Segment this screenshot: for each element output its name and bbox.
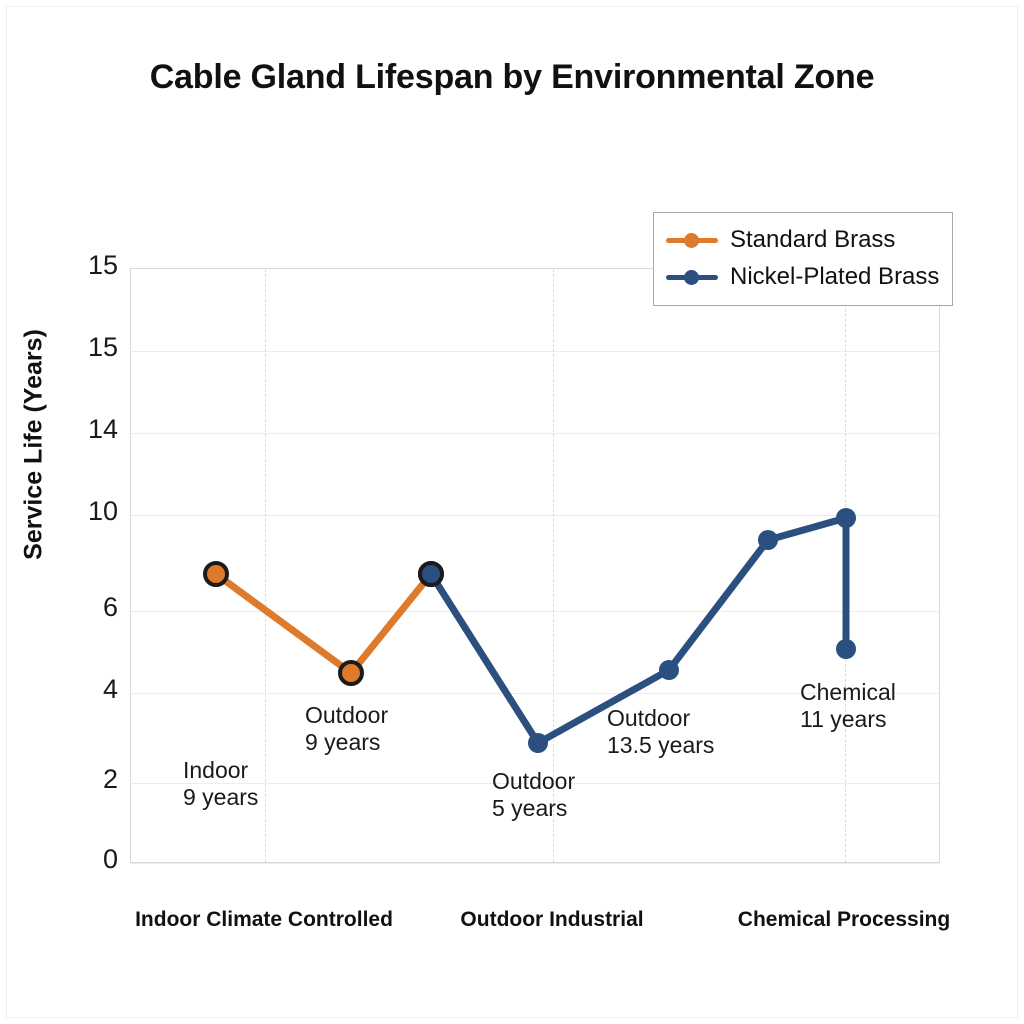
y-tick-label: 4 (48, 674, 118, 705)
annotation-value: 9 years (305, 729, 388, 756)
y-tick-label: 15 (48, 250, 118, 281)
x-tick-label: Outdoor Industrial (392, 908, 712, 932)
legend[interactable]: Standard Brass Nickel-Plated Brass (653, 212, 953, 306)
chart-canvas: Cable Gland Lifespan by Environmental Zo… (0, 0, 1024, 1024)
annotation-chemical-11-years: Chemical11 years (800, 679, 896, 733)
data-point-marker[interactable] (420, 563, 442, 585)
x-tick-label: Chemical Processing (684, 908, 1004, 932)
series-line (216, 574, 431, 673)
y-tick-label: 0 (48, 844, 118, 875)
annotation-indoor-9-years: Indoor9 years (183, 757, 258, 811)
data-point-marker[interactable] (758, 530, 778, 550)
x-tick-label: Indoor Climate Controlled (104, 908, 424, 932)
y-tick-label: 10 (48, 496, 118, 527)
annotation-value: 13.5 years (607, 732, 714, 759)
annotation-outdoor-9-years: Outdoor9 years (305, 702, 388, 756)
data-point-marker[interactable] (836, 639, 856, 659)
annotation-value: 11 years (800, 706, 896, 733)
annotation-value: 5 years (492, 795, 575, 822)
annotation-value: 9 years (183, 784, 258, 811)
data-point-marker[interactable] (659, 660, 679, 680)
y-tick-label: 2 (48, 764, 118, 795)
annotation-zone: Chemical (800, 679, 896, 705)
annotation-outdoor-13-5-years: Outdoor13.5 years (607, 705, 714, 759)
legend-label-standard-brass: Standard Brass (730, 226, 895, 254)
data-point-marker[interactable] (340, 662, 362, 684)
data-point-marker[interactable] (205, 563, 227, 585)
legend-swatch-standard-brass (666, 232, 718, 248)
legend-item-nickel-plated-brass[interactable]: Nickel-Plated Brass (666, 258, 940, 295)
data-point-marker[interactable] (528, 733, 548, 753)
annotation-zone: Indoor (183, 757, 248, 783)
y-tick-label: 6 (48, 592, 118, 623)
annotation-zone: Outdoor (607, 705, 690, 731)
legend-label-nickel-plated-brass: Nickel-Plated Brass (730, 263, 939, 291)
annotation-zone: Outdoor (492, 768, 575, 794)
legend-item-standard-brass[interactable]: Standard Brass (666, 221, 940, 258)
y-tick-label: 15 (48, 332, 118, 363)
y-tick-label: 14 (48, 414, 118, 445)
annotation-outdoor-5-years: Outdoor5 years (492, 768, 575, 822)
legend-swatch-nickel-plated-brass (666, 269, 718, 285)
annotation-zone: Outdoor (305, 702, 388, 728)
data-point-marker[interactable] (836, 508, 856, 528)
